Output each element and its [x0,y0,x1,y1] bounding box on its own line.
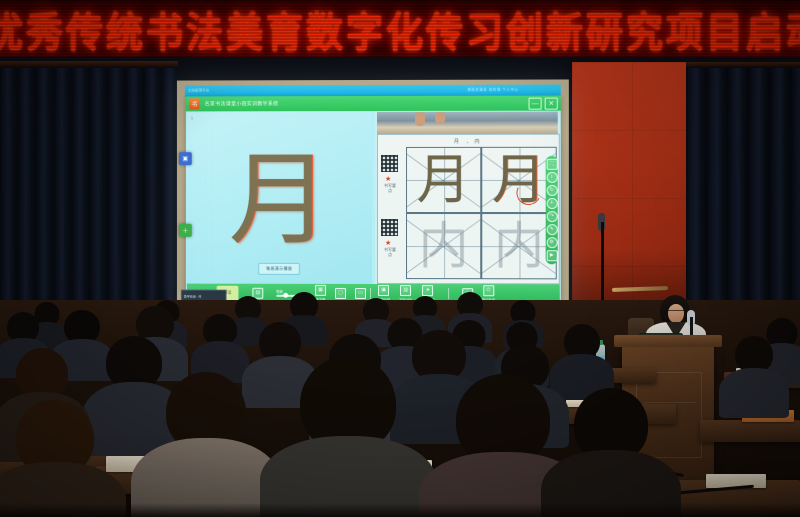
side-label-text: 书写要点 [383,247,397,257]
led-banner-text: 优秀传统书法美育数字化传习创新研究项目启动暨 [0,0,800,59]
grid-cell[interactable]: 月 [406,147,481,213]
tool-paper[interactable]: ▭ [355,287,366,298]
grid-cell[interactable]: 内 [406,213,481,279]
canvas-corner-mark: 1 [191,115,193,120]
tool-video-icon: ▣ [378,285,389,296]
star-icon: ★ [385,239,391,247]
app-title-bar: 书 名家书法课堂小班实训教学系统 — ✕ [186,96,561,112]
foreground-shadow [0,503,800,517]
hand-shape [435,112,445,124]
tool-play-button[interactable]: ▶ [546,250,557,261]
scan-photo-strip [377,112,558,134]
tool-compare-icon: ▥ [400,285,411,296]
tool-zoom-in-button[interactable]: ＋ [546,198,557,209]
glasses-icon [668,310,684,314]
minimize-button[interactable]: — [529,98,542,110]
character-canvas[interactable]: 1 月 笔画演示播放 [187,112,372,284]
app-logo-icon: 书 [189,98,200,109]
tool-rotate-button[interactable]: ↷ [546,211,557,222]
practice-grid: 月 月 内 [406,147,557,280]
grid-cell-character: 内 [494,221,544,271]
browser-bar-left-text: 文档管理平台 [188,87,209,92]
calligraphy-app-window: 书 名家书法课堂小班实训教学系统 — ✕ 1 月 笔画演示播放 [186,96,561,303]
audience-member [0,400,110,517]
desktop-shortcut-green-icon[interactable]: ＋ [179,224,192,237]
hand-shape [415,112,425,126]
window-controls: — ✕ [529,98,558,110]
audience-member [726,336,782,412]
tool-pen-button[interactable]: ✎ [546,224,557,235]
workbook-page: 月 、内 ★ 书写要点 ★ 书写要点 月 [377,134,560,285]
desk [700,420,800,442]
curtain-left [0,61,178,323]
grid-cell-character: 内 [419,221,469,271]
workbook-scan-panel[interactable]: 月 、内 ★ 书写要点 ★ 书写要点 月 [375,112,560,285]
toolbar-divider [370,287,371,298]
browser-bar-right-text: 课程资源库 我的课 个人中心 [467,87,518,92]
tool-info-button[interactable]: i [546,172,557,183]
tool-eraser[interactable]: ▢ [335,287,346,298]
tool-settings-button[interactable]: ⚙ [546,237,557,248]
star-icon: ★ [385,175,391,183]
qr-code-icon[interactable] [381,155,398,172]
grid-cell-character: 月 [417,153,471,207]
audience-member [196,314,244,378]
audience-member [556,388,666,517]
vertical-round-toolbar: ⛶ i ↻ ＋ ↷ ✎ ⚙ ▶ [546,156,558,264]
qr-code-icon[interactable] [381,219,398,236]
big-character-glyph: 月 [229,150,331,252]
grid-cell[interactable]: 月 [481,147,556,213]
audience-member [148,372,264,517]
tool-refresh-button[interactable]: ↻ [546,185,557,196]
tool-paper-icon: ▭ [355,287,366,298]
app-title-text: 名家书法课堂小班实训教学系统 [205,100,279,107]
desktop-shortcut-blue-icon[interactable]: ▣ [179,152,192,165]
tool-eraser-icon: ▢ [335,287,346,298]
projection-screen: 文档管理平台 课程资源库 我的课 个人中心 书 名家书法课堂小班实训教学系统 —… [177,79,569,318]
led-banner: 优秀传统书法美育数字化传习创新研究项目启动暨 [0,0,800,61]
stroke-demo-button[interactable]: 笔画演示播放 [258,263,300,275]
tool-fullscreen-button[interactable]: ⛶ [546,159,557,170]
conference-photo-scene: 优秀传统书法美育数字化传习创新研究项目启动暨 文档管理平台 课程资源库 我的课 … [0,0,800,517]
toolbar-divider [448,288,449,299]
close-button[interactable]: ✕ [545,98,558,110]
side-label-text: 书写要点 [383,183,397,193]
page-header-text: 月 、内 [378,138,559,145]
audience-member [282,356,414,517]
mic-stand [601,222,604,300]
tool-share-icon: ➤ [423,285,434,296]
